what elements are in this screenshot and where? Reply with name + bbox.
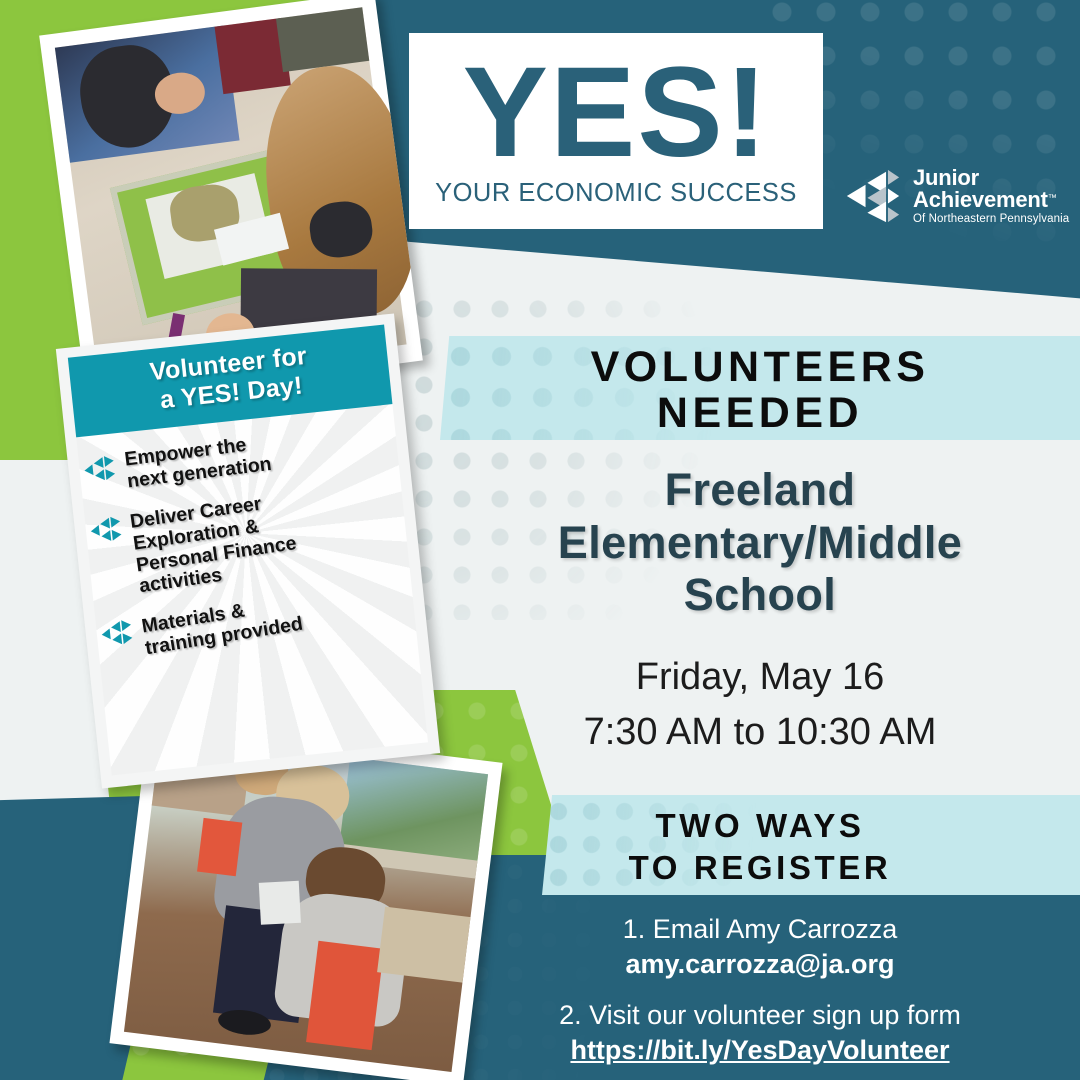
volunteer-benefit-list: Empower the next generation bbox=[76, 404, 416, 661]
school-name: Freeland Elementary/Middle School bbox=[440, 464, 1080, 622]
spacer bbox=[440, 981, 1080, 998]
register-option-2-link[interactable]: https://bit.ly/YesDayVolunteer bbox=[440, 1033, 1080, 1068]
event-datetime: Friday, May 16 7:30 AM to 10:30 AM bbox=[440, 650, 1080, 760]
list-item-text: Deliver Career Exploration & Personal Fi… bbox=[129, 489, 301, 598]
page-title: VOLUNTEERS NEEDED bbox=[440, 344, 1080, 436]
volunteer-card-inner: Volunteer for a YES! Day! bbox=[68, 325, 428, 776]
school-line1: Freeland bbox=[440, 464, 1080, 517]
photo-image-classroom-bottom bbox=[124, 734, 488, 1072]
ja-triangle-bullet-icon bbox=[99, 617, 136, 648]
main-content-column: VOLUNTEERS NEEDED Freeland Elementary/Mi… bbox=[440, 0, 1080, 1080]
list-item: Empower the next generation bbox=[82, 421, 393, 497]
register-heading: TWO WAYS TO REGISTER bbox=[440, 805, 1080, 888]
poster-canvas: YES! YOUR ECONOMIC SUCCESS Junior Achiev… bbox=[0, 0, 1080, 1080]
headline-line2: NEEDED bbox=[440, 390, 1080, 436]
event-time: 7:30 AM to 10:30 AM bbox=[440, 705, 1080, 760]
register-heading-line2: TO REGISTER bbox=[440, 847, 1080, 889]
volunteer-benefits-card: Volunteer for a YES! Day! bbox=[56, 313, 440, 788]
registration-options: 1. Email Amy Carrozza amy.carrozza@ja.or… bbox=[440, 912, 1080, 1067]
register-option-2-label: 2. Visit our volunteer sign up form bbox=[440, 998, 1080, 1033]
register-heading-line1: TWO WAYS bbox=[440, 805, 1080, 847]
ja-triangle-bullet-icon bbox=[82, 453, 119, 484]
school-line3: School bbox=[440, 569, 1080, 622]
list-item: Deliver Career Exploration & Personal Fi… bbox=[88, 481, 403, 600]
register-option-1-label: 1. Email Amy Carrozza bbox=[440, 912, 1080, 947]
list-item-text: Empower the next generation bbox=[123, 432, 272, 493]
event-date: Friday, May 16 bbox=[440, 650, 1080, 705]
headline-line1: VOLUNTEERS bbox=[440, 344, 1080, 390]
register-option-1-email[interactable]: amy.carrozza@ja.org bbox=[440, 947, 1080, 982]
school-line2: Elementary/Middle bbox=[440, 517, 1080, 570]
ja-triangle-bullet-icon bbox=[89, 514, 126, 545]
